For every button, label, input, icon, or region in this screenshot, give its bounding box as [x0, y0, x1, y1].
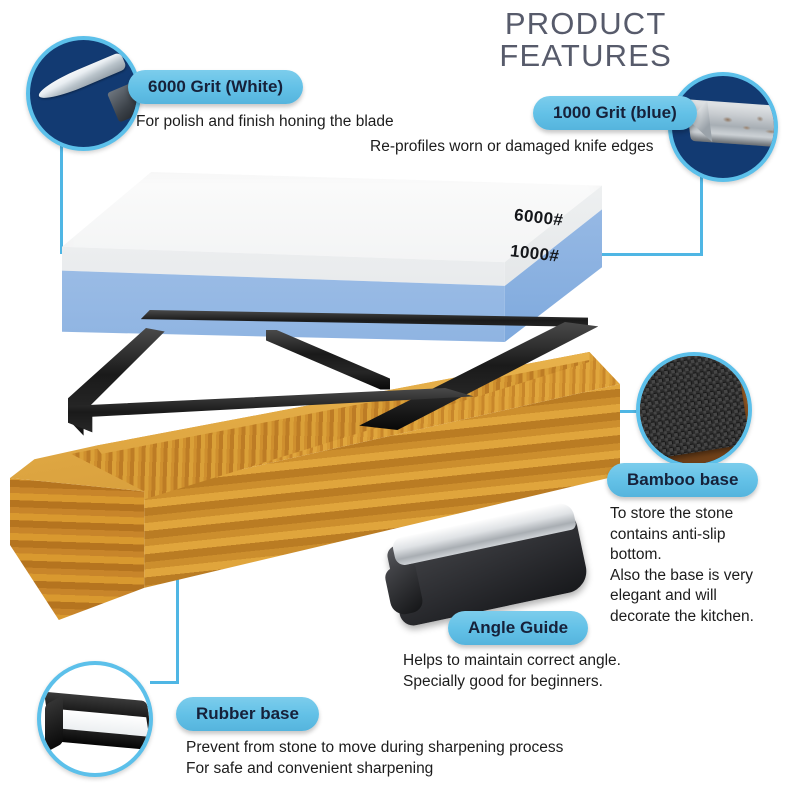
- frame-right-rail: [359, 322, 598, 430]
- callout-pill-bamboo-base[interactable]: Bamboo base: [607, 463, 758, 497]
- rubber-frame-object: [68, 310, 588, 460]
- rubber-frame-left-shape: [45, 695, 63, 752]
- callout-pill-6000-grit[interactable]: 6000 Grit (White): [128, 70, 303, 104]
- leader-line-1000-grit: [700, 170, 703, 256]
- frame-back-rail: [141, 310, 588, 336]
- product-features-infographic: PRODUCT FEATURES 6000# 1000#: [0, 0, 800, 800]
- frame-cross-bar: [266, 330, 391, 390]
- page-title: PRODUCT FEATURES: [499, 8, 672, 71]
- callout-pill-rubber-base[interactable]: Rubber base: [176, 697, 319, 731]
- anti-slip-mesh-icon: [636, 352, 752, 468]
- callout-pill-1000-grit[interactable]: 1000 Grit (blue): [533, 96, 697, 130]
- callout-text-6000-grit: For polish and finish honing the blade: [136, 112, 556, 133]
- callout-text-1000-grit: Re-profiles worn or damaged knife edges: [370, 137, 700, 158]
- callout-text-angle-guide: Helps to maintain correct angle. Special…: [403, 651, 703, 692]
- angle-guide-object: [388, 516, 588, 624]
- knife-blade-icon: [26, 36, 141, 151]
- callout-pill-angle-guide[interactable]: Angle Guide: [448, 611, 588, 645]
- callout-text-bamboo-base: To store the stone contains anti-slip bo…: [610, 504, 800, 628]
- callout-text-rubber-base: Prevent from stone to move during sharpe…: [186, 738, 656, 779]
- leader-line-rubber-base-foot: [150, 681, 179, 684]
- rubber-frame-icon: [37, 661, 153, 777]
- mesh-texture: [636, 352, 751, 461]
